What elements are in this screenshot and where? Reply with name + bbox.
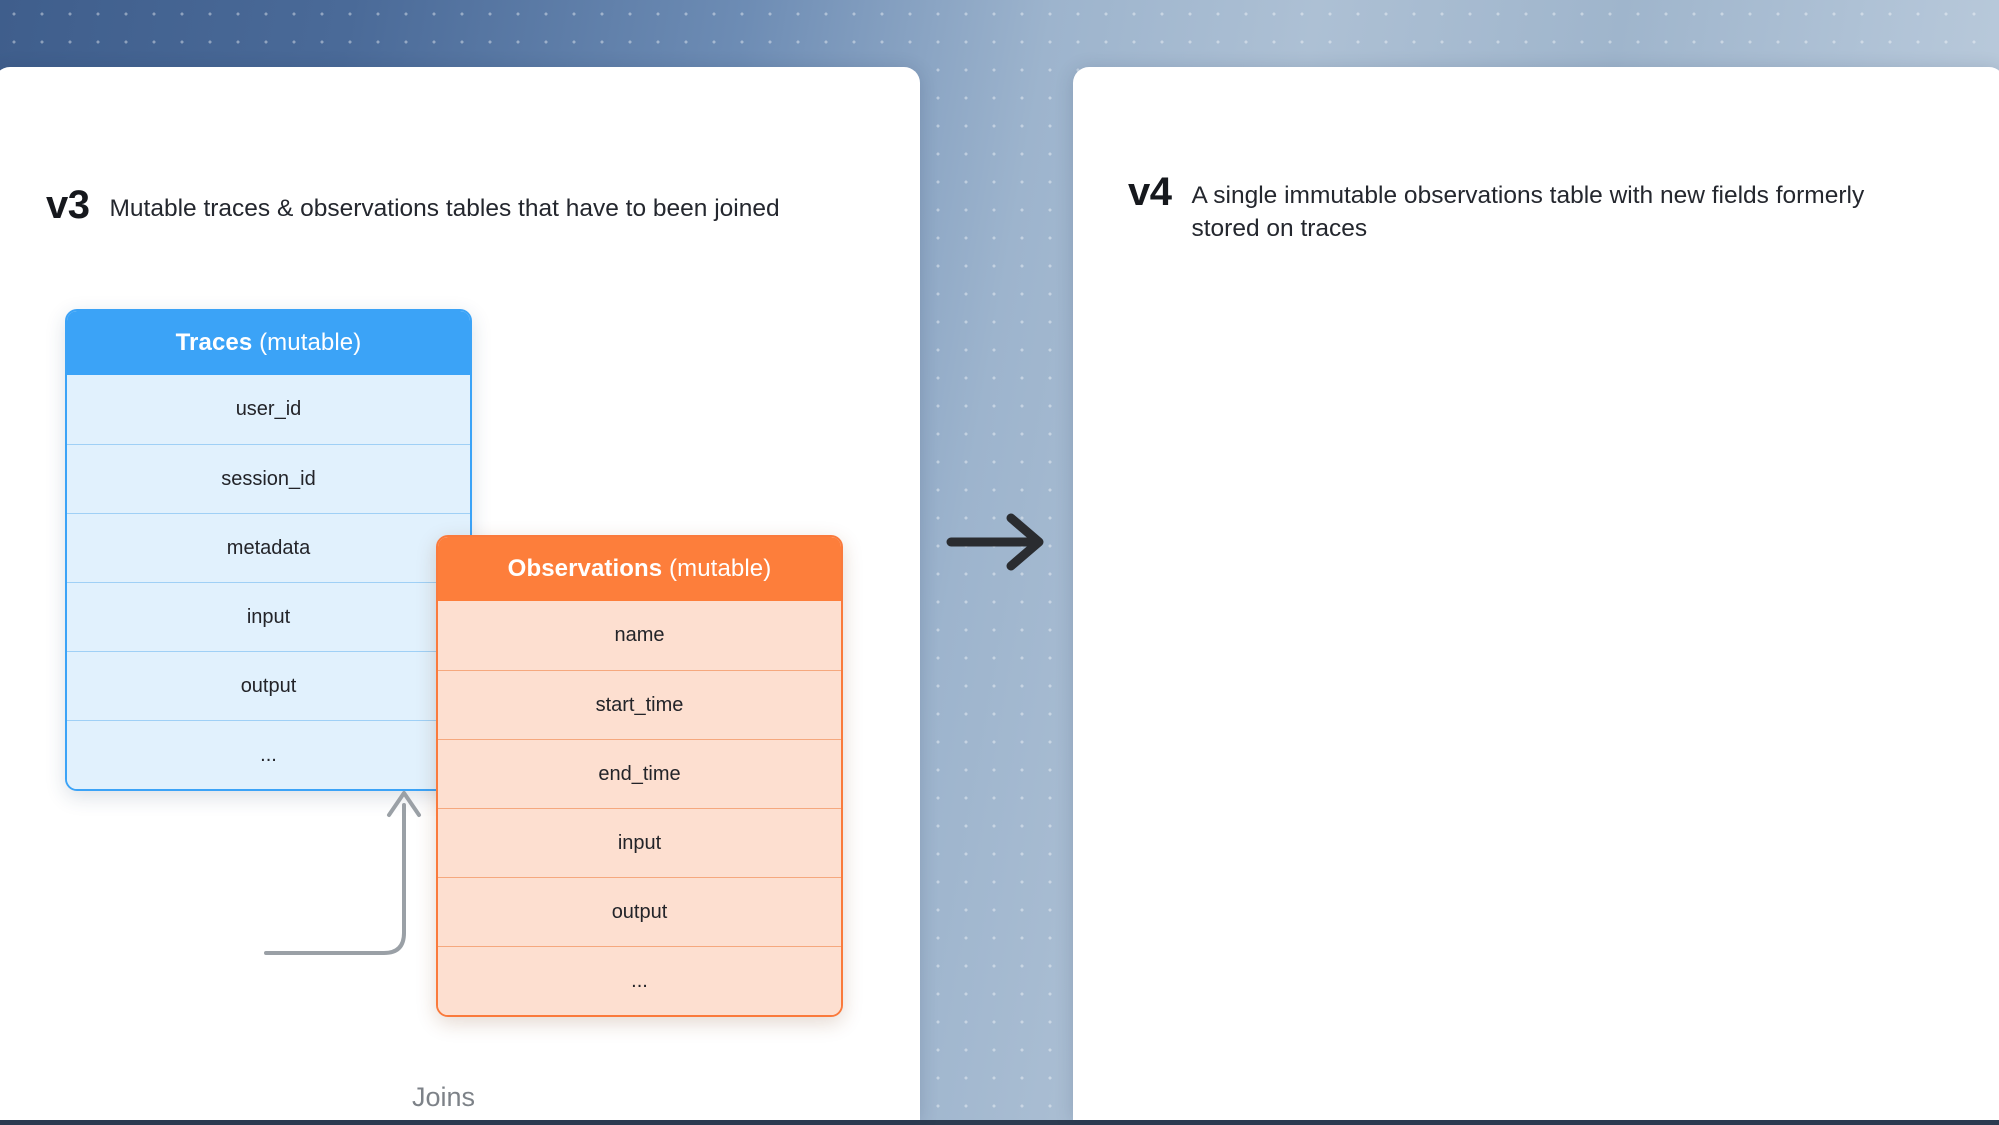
panel-v4-heading: v4 A single immutable observations table… [1128,172,1892,245]
field-name: metadata [227,537,310,560]
version-label-v3: v3 [46,185,90,225]
field-name: session_id [221,468,316,491]
table-row: name [438,601,841,670]
table-observations-title: Observations [508,555,663,582]
table-row: output [438,877,841,946]
field-name: input [618,832,661,855]
table-row: start_time [438,670,841,739]
panel-v3: v3 Mutable traces & observations tables … [0,67,920,1120]
table-row: ... [67,720,470,789]
table-observations-mutable: Observations (mutable) name start_time e… [436,535,843,1017]
panel-v3-heading: v3 Mutable traces & observations tables … [46,185,780,225]
table-row: input [438,808,841,877]
table-row: end_time [438,739,841,808]
field-name: output [241,675,297,698]
table-traces-mutability: (mutable) [259,329,361,356]
table-row: ... [438,946,841,1015]
field-name: start_time [596,694,684,717]
panel-v4-description: A single immutable observations table wi… [1192,172,1892,245]
diagram-canvas: v3 Mutable traces & observations tables … [0,0,1999,1125]
table-row: output [67,651,470,720]
panel-v4: v4 A single immutable observations table… [1073,67,1999,1120]
field-name: input [247,606,290,629]
table-traces-title: Traces [176,329,253,356]
right-arrow-icon [945,512,1055,572]
field-name: ... [260,744,277,767]
joins-label: Joins [412,1082,475,1113]
table-row: input [67,582,470,651]
table-traces-header: Traces (mutable) [67,311,470,375]
field-name: user_id [236,398,302,421]
table-traces: Traces (mutable) user_id session_id meta… [65,309,472,791]
table-row: session_id [67,444,470,513]
table-row: user_id [67,375,470,444]
field-name: name [614,624,664,647]
field-name: output [612,901,668,924]
table-observations-mutability: (mutable) [669,555,771,582]
field-name: ... [631,970,648,993]
version-label-v4: v4 [1128,172,1172,212]
table-row: metadata [67,513,470,582]
panel-v3-description: Mutable traces & observations tables tha… [110,185,780,225]
table-observations-mutable-header: Observations (mutable) [438,537,841,601]
field-name: end_time [598,763,680,786]
